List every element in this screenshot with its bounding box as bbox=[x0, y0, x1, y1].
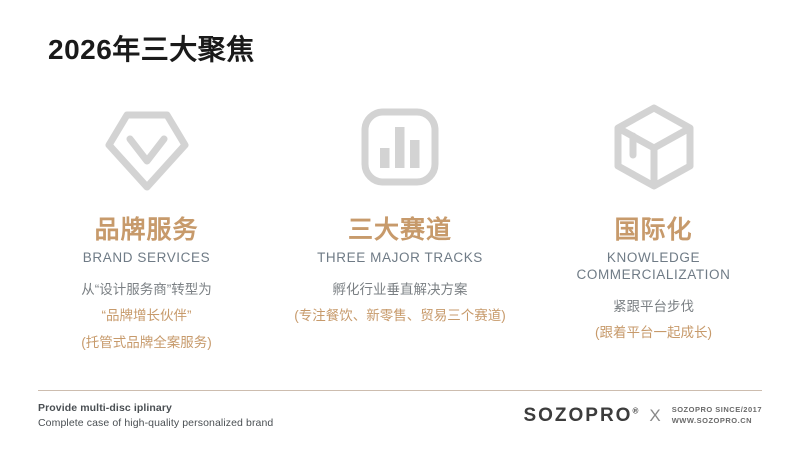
brand-meta-website: WWW.SOZOPRO.CN bbox=[672, 415, 762, 426]
box-cube-icon bbox=[602, 95, 706, 199]
column-body: 紧跟平台步伐 (跟着平台一起成长) bbox=[595, 298, 712, 342]
page-title: 2026年三大聚焦 bbox=[48, 34, 255, 66]
diamond-chevron-icon bbox=[95, 95, 199, 199]
focus-column-brand-services: 品牌服务 BRAND SERVICES 从“设计服务商”转型为 “品牌增长伙伴”… bbox=[24, 95, 269, 352]
body-line: (托管式品牌全案服务) bbox=[81, 334, 212, 352]
brand-meta: SOZOPRO SINCE/2017 WWW.SOZOPRO.CN bbox=[672, 404, 762, 427]
column-body: 从“设计服务商”转型为 “品牌增长伙伴” (托管式品牌全案服务) bbox=[81, 281, 212, 352]
brand-lockup: SOZOPRO® X SOZOPRO SINCE/2017 WWW.SOZOPR… bbox=[523, 401, 762, 427]
registered-trademark-icon: ® bbox=[632, 406, 638, 415]
body-line: 紧跟平台步伐 bbox=[613, 298, 694, 316]
brand-separator-x-icon: X bbox=[649, 407, 660, 424]
bar-chart-icon bbox=[348, 95, 452, 199]
column-title-en: THREE MAJOR TRACKS bbox=[317, 250, 483, 267]
column-title-en: BRAND SERVICES bbox=[83, 250, 210, 267]
body-line: “品牌增长伙伴” bbox=[102, 307, 192, 325]
footer-tagline: Provide multi-disc iplinary Complete cas… bbox=[38, 401, 273, 431]
brand-logo: SOZOPRO® bbox=[523, 406, 638, 425]
body-line: 孵化行业垂直解决方案 bbox=[333, 281, 468, 299]
focus-column-three-major-tracks: 三大赛道 THREE MAJOR TRACKS 孵化行业垂直解决方案 (专注餐饮… bbox=[278, 95, 523, 325]
footer-divider bbox=[38, 390, 762, 391]
footer-tagline-line-2: Complete case of high-quality personaliz… bbox=[38, 416, 273, 431]
body-line: 从“设计服务商”转型为 bbox=[81, 281, 212, 299]
focus-columns: 品牌服务 BRAND SERVICES 从“设计服务商”转型为 “品牌增长伙伴”… bbox=[24, 95, 776, 352]
column-body: 孵化行业垂直解决方案 (专注餐饮、新零售、贸易三个赛道) bbox=[294, 281, 506, 325]
body-line: (专注餐饮、新零售、贸易三个赛道) bbox=[294, 307, 506, 325]
column-title-cn: 三大赛道 bbox=[348, 215, 452, 245]
slide-footer: Provide multi-disc iplinary Complete cas… bbox=[38, 401, 762, 441]
brand-meta-since: SOZOPRO SINCE/2017 bbox=[672, 404, 762, 415]
column-title-en: KNOWLEDGE COMMERCIALIZATION bbox=[536, 250, 771, 284]
focus-column-internationalization: 国际化 KNOWLEDGE COMMERCIALIZATION 紧跟平台步伐 (… bbox=[531, 95, 776, 342]
footer-tagline-line-1: Provide multi-disc iplinary bbox=[38, 401, 273, 416]
brand-logo-text: SOZOPRO bbox=[523, 405, 632, 426]
column-title-cn: 国际化 bbox=[614, 215, 692, 245]
body-line: (跟着平台一起成长) bbox=[595, 324, 712, 342]
column-title-cn: 品牌服务 bbox=[94, 215, 198, 245]
slide-canvas: 2026年三大聚焦 品牌服务 BRAND SERVICES 从“设计服务商”转型… bbox=[0, 0, 800, 449]
